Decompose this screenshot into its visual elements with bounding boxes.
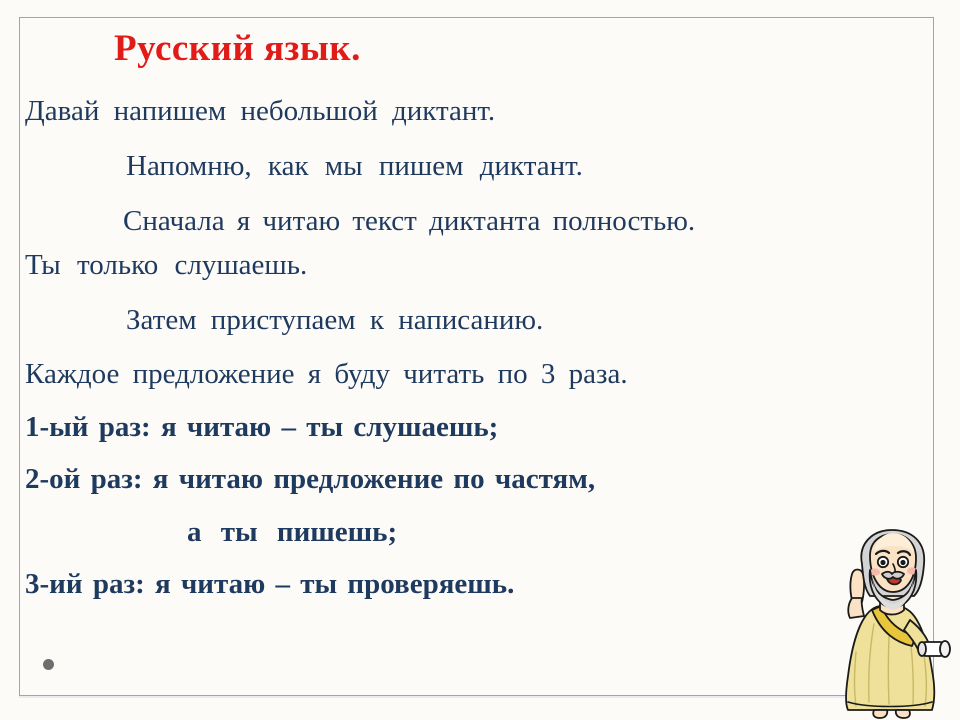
scroll [918,641,950,657]
body-line-2: Напомню, как мы пишем диктант. [126,152,583,181]
slide-canvas: Русский язык. Давай напишем небольшой ди… [0,0,960,720]
foot-right [896,710,910,718]
bullet-point-marker [43,659,54,670]
foot-left [873,710,887,718]
body-line-7: 1-ый раз: я читаю – ты слушаешь; [25,413,498,442]
body-line-4: Ты только слушаешь. [25,251,307,280]
body-line-9: а ты пишешь; [187,518,397,547]
slide-content: Русский язык. Давай напишем небольшой ди… [19,17,934,696]
body-line-5: Затем приступаем к написанию. [126,306,543,335]
body-line-6: Каждое предложение я буду читать по 3 ра… [25,360,628,389]
body-line-1: Давай напишем небольшой диктант. [25,97,495,126]
socrates-philosopher-illustration [828,524,954,720]
body-line-3: Сначала я читаю текст диктанта полностью… [123,207,695,236]
body-line-10: 3-ий раз: я читаю – ты проверяешь. [25,570,514,599]
moustache [882,572,904,579]
page-title: Русский язык. [114,27,361,70]
body-line-8: 2-ой раз: я читаю предложение по частям, [25,465,595,494]
